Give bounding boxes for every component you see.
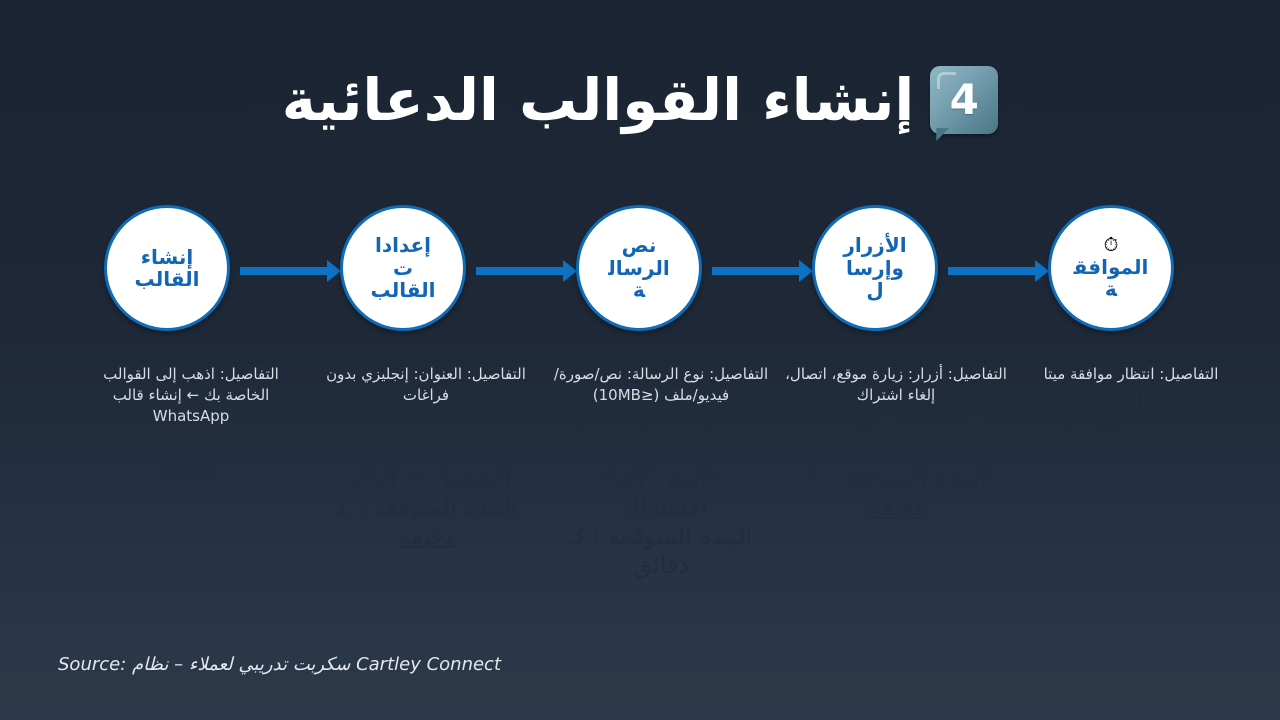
detail-column-1-head: التفاصيل: اذهب إلى القوالب الخاصة بك ← إ…: [80, 364, 302, 427]
flow-node-5[interactable]: ⏱ الموافقة: [1048, 205, 1174, 331]
detail-column-2: التفاصيل: العنوان: إنجليزي بدون فراغات ن…: [315, 364, 537, 551]
detail-column-5-body: المدة المتوقعة:10-24 ساعة: [1020, 386, 1242, 444]
detail-column-2-body: نوع: تسويقاللغة: حسبالتفضيل ← التاليالمد…: [315, 407, 537, 551]
slide-title-row: إنشاء القوالب الدعائية 4: [0, 52, 1280, 148]
source-arabic: سكربت تدريبي لعملاء – نظام: [132, 654, 350, 675]
detail-column-1: التفاصيل: اذهب إلى القوالب الخاصة بك ← إ…: [80, 364, 302, 486]
flow-arrow-1: [240, 267, 328, 275]
source-suffix: Cartley Connect: [356, 654, 501, 675]
flow-node-1[interactable]: إنشاء القالب: [104, 205, 230, 331]
flow-arrow-3: [712, 267, 800, 275]
detail-column-2-head: التفاصيل: العنوان: إنجليزي بدون فراغات: [315, 364, 537, 406]
flow-node-3[interactable]: نص الرسالة: [576, 205, 702, 331]
flow-node-2-label: إعدادات القالب: [367, 234, 439, 301]
flow-arrow-2: [476, 267, 564, 275]
detail-column-4: التفاصيل: أزرار: زيارة موقع، اتصال، إلغا…: [785, 364, 1007, 522]
stopwatch-icon: ⏱: [1104, 236, 1119, 255]
source-caption: Source: سكربت تدريبي لعملاء – نظام Cartl…: [58, 654, 501, 675]
flow-node-4-label: الأزرار وإرسال: [839, 234, 911, 301]
detail-column-5: التفاصيل: انتظار موافقة ميتا المدة المتو…: [1020, 364, 1242, 444]
flow-node-5-label: الموافقة: [1072, 256, 1150, 301]
detail-column-5-head: التفاصيل: انتظار موافقة ميتا: [1020, 364, 1242, 385]
flow-node-3-label: نص الرسالة: [603, 234, 675, 301]
flow-arrow-4: [948, 267, 1036, 275]
detail-column-4-body: ← التالي ← إرساللميتاالمدة المتوقعة : 1د…: [785, 407, 1007, 522]
flow-node-1-label: إنشاء القالب: [131, 246, 203, 291]
flow-node-2[interactable]: إعدادات القالب: [340, 205, 466, 331]
page-title: إنشاء القوالب الدعائية: [282, 70, 915, 131]
step-number-badge: 4: [930, 66, 998, 134]
step-number-label: 4: [950, 79, 979, 121]
flow-node-4[interactable]: الأزرار وإرسال: [812, 205, 938, 331]
detail-column-3: التفاصيل: نوع الرسالة: نص/صورة/فيديو/ملف…: [550, 364, 772, 580]
process-flow: إنشاء القالب إعدادات القالب نص الرسالة ا…: [96, 205, 1192, 335]
detail-column-4-head: التفاصيل: أزرار: زيارة موقع، اتصال، إلغا…: [785, 364, 1007, 406]
detail-column-1-body: المدة المتوقعة : 1دقيقة: [80, 428, 302, 486]
detail-column-3-body: نص كامل: تحققبـChatGPTخاتمة: 'إلغاءالاشت…: [550, 407, 772, 580]
detail-columns: التفاصيل: اذهب إلى القوالب الخاصة بك ← إ…: [60, 364, 1240, 614]
detail-column-3-head: التفاصيل: نوع الرسالة: نص/صورة/فيديو/ملف…: [550, 364, 772, 406]
source-prefix: Source:: [58, 654, 126, 675]
